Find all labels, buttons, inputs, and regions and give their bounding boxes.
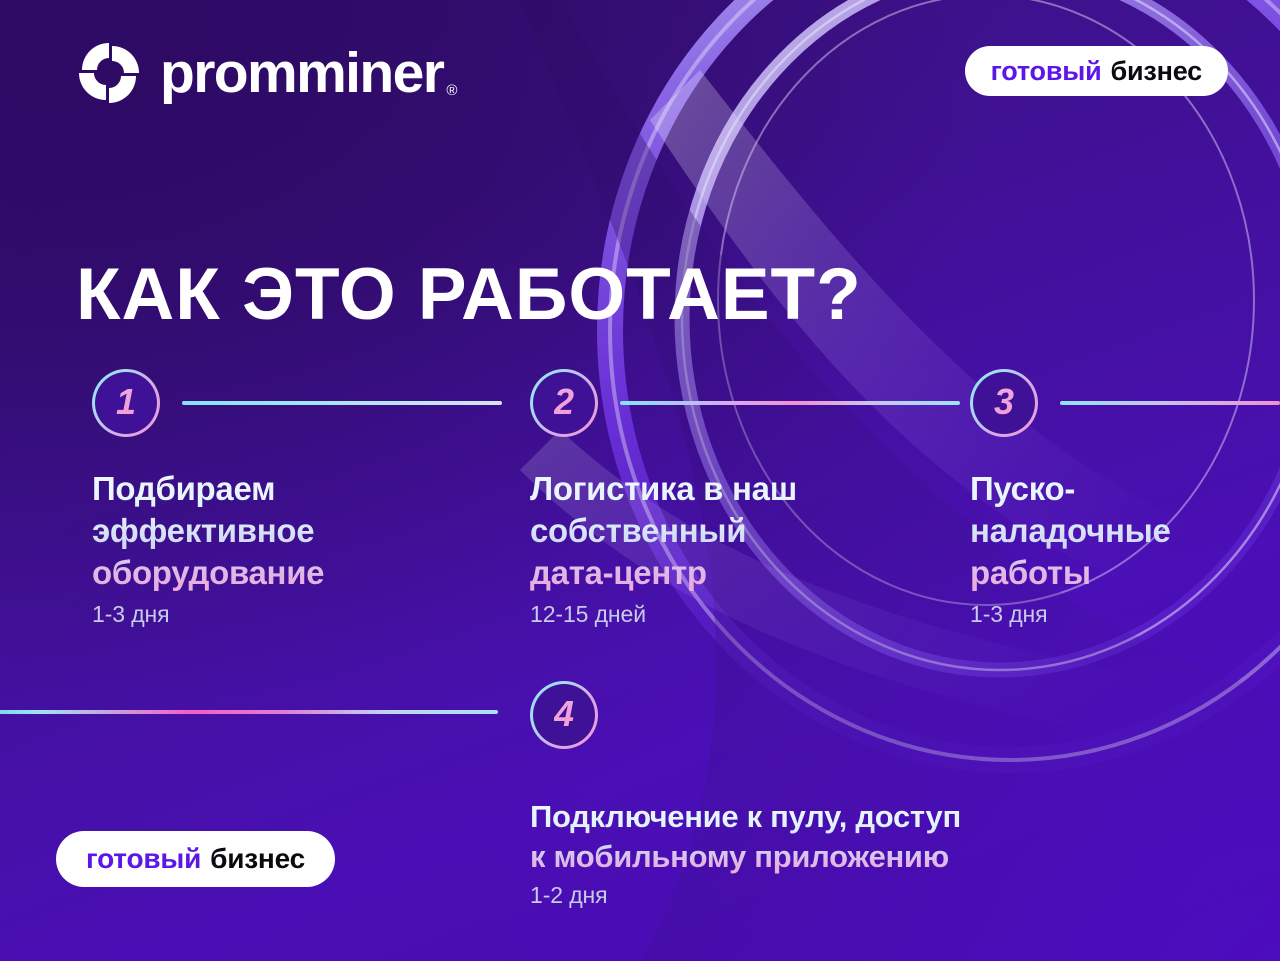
- step-1-number-badge: 1: [92, 369, 160, 437]
- badge-ready-business-bottom[interactable]: готовый бизнес: [56, 831, 335, 887]
- step-3-number-badge: 3: [970, 369, 1038, 437]
- step-3-body: Пуско- наладочные работы 1-3 дня: [970, 468, 1280, 626]
- promotional-banner: promminer ® готовый бизнес КАК ЭТО РАБОТ…: [0, 0, 1280, 961]
- badge-bottom-word-1: готовый: [86, 843, 201, 875]
- page-title: КАК ЭТО РАБОТАЕТ?: [76, 258, 862, 331]
- step-1-duration: 1-3 дня: [92, 603, 502, 626]
- step-4-duration: 1-2 дня: [530, 884, 1170, 907]
- step-2-duration: 12-15 дней: [530, 603, 960, 626]
- step-1-body: Подбираем эффективное оборудование 1-3 д…: [92, 468, 502, 626]
- step-1-connector-line: [182, 401, 502, 405]
- step-4-number: 4: [554, 696, 574, 732]
- step-3-header: 3: [970, 371, 1280, 435]
- step-2: 2 Логистика в наш собственный дата-центр…: [530, 371, 960, 626]
- brand-logo[interactable]: promminer ®: [78, 42, 456, 104]
- step-2-number: 2: [554, 384, 574, 420]
- step-1-title: Подбираем эффективное оборудование: [92, 468, 502, 595]
- step-2-number-badge: 2: [530, 369, 598, 437]
- brand-wordmark-text: promminer: [160, 45, 443, 102]
- badge-bottom-word-2: бизнес: [210, 843, 305, 875]
- step-4: 4 Подключение к пулу, доступ к мобильном…: [530, 683, 1170, 907]
- step-1-number: 1: [116, 384, 136, 420]
- step-2-header: 2: [530, 371, 960, 435]
- step-3-title: Пуско- наладочные работы: [970, 468, 1280, 595]
- promminer-ring-logo-icon: [78, 42, 140, 104]
- badge-top-word-2: бизнес: [1111, 56, 1202, 87]
- step-4-number-badge: 4: [530, 681, 598, 749]
- badge-ready-business-top[interactable]: готовый бизнес: [965, 46, 1228, 96]
- step-4-header: 4: [530, 683, 1170, 747]
- step-3-number: 3: [994, 384, 1014, 420]
- step-3-connector-line: [1060, 401, 1280, 405]
- step-1: 1 Подбираем эффективное оборудование 1-3…: [92, 371, 502, 626]
- step-1-header: 1: [92, 371, 502, 435]
- registered-trademark-icon: ®: [446, 83, 455, 98]
- badge-top-word-1: готовый: [991, 56, 1102, 87]
- step-4-connector-line: [0, 710, 498, 714]
- brand-wordmark: promminer ®: [160, 45, 456, 102]
- step-3-duration: 1-3 дня: [970, 603, 1280, 626]
- step-2-connector-line: [620, 401, 960, 405]
- step-4-title: Подключение к пулу, доступ к мобильному …: [530, 797, 1170, 876]
- step-2-title: Логистика в наш собственный дата-центр: [530, 468, 960, 595]
- step-4-body: Подключение к пулу, доступ к мобильному …: [530, 797, 1170, 907]
- step-2-body: Логистика в наш собственный дата-центр 1…: [530, 468, 960, 626]
- step-3: 3 Пуско- наладочные работы 1-3 дня: [970, 371, 1280, 626]
